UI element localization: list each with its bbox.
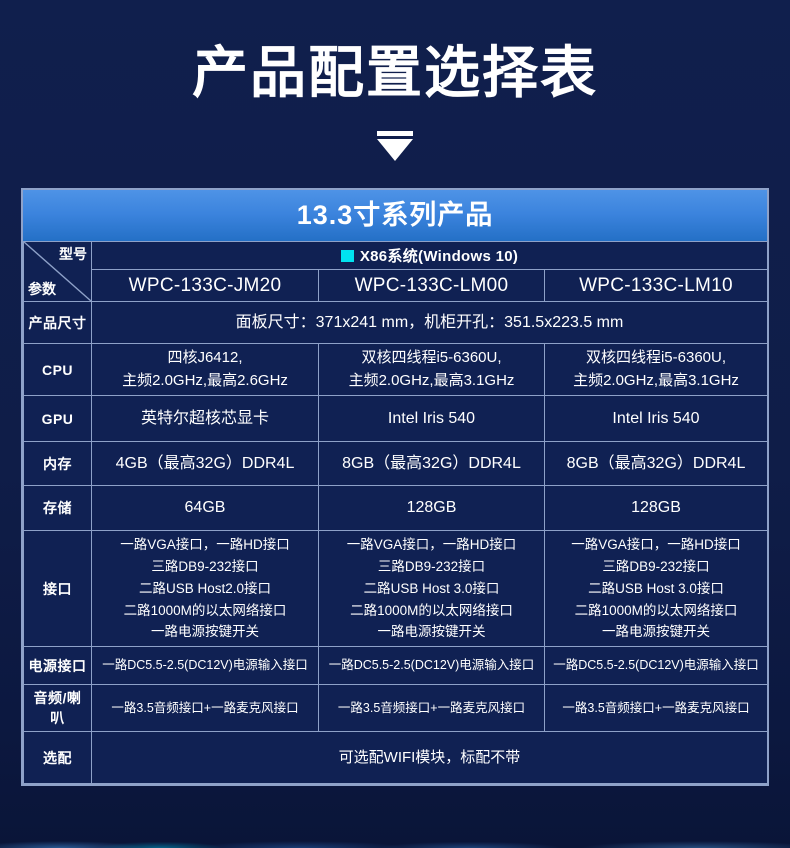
corner-cell: 型号 参数 [24, 242, 92, 302]
row-label-dimensions: 产品尺寸 [24, 302, 92, 344]
gpu-cell-1: 英特尔超核芯显卡 [92, 396, 319, 442]
table-row-gpu: GPU 英特尔超核芯显卡 Intel Iris 540 Intel Iris 5… [24, 396, 768, 442]
arrow-triangle [377, 139, 413, 161]
gpu-cell-3: Intel Iris 540 [545, 396, 768, 442]
gpu-cell-2: Intel Iris 540 [319, 396, 545, 442]
memory-cell-1: 4GB（最高32G）DDR4L [92, 442, 319, 486]
storage-cell-1: 64GB [92, 486, 319, 531]
model-cell-1: WPC-133C-JM20 [92, 270, 319, 302]
power-cell-2: 一路DC5.5-2.5(DC12V)电源输入接口 [319, 647, 545, 685]
iface-line: 一路VGA接口，一路HD接口 [96, 534, 314, 556]
iface-line: 三路DB9-232接口 [323, 556, 540, 578]
iface-line: 二路USB Host2.0接口 [96, 578, 314, 600]
cpu-line-3a: 双核四线程i5-6360U, [549, 347, 763, 370]
iface-line: 二路1000M的以太网络接口 [323, 600, 540, 622]
table-row-optional: 选配 可选配WIFI模块，标配不带 [24, 732, 768, 784]
row-label-interfaces: 接口 [24, 531, 92, 647]
audio-cell-1: 一路3.5音频接口+一路麦克风接口 [92, 685, 319, 732]
cpu-cell-1: 四核J6412, 主频2.0GHz,最高2.6GHz [92, 344, 319, 396]
power-cell-3: 一路DC5.5-2.5(DC12V)电源输入接口 [545, 647, 768, 685]
row-label-cpu: CPU [24, 344, 92, 396]
square-marker-icon [341, 250, 354, 262]
storage-cell-3: 128GB [545, 486, 768, 531]
page-title: 产品配置选择表 [0, 44, 790, 103]
row-label-gpu: GPU [24, 396, 92, 442]
memory-cell-3: 8GB（最高32G）DDR4L [545, 442, 768, 486]
iface-line: 一路电源按键开关 [549, 621, 763, 643]
table-row-cpu: CPU 四核J6412, 主频2.0GHz,最高2.6GHz 双核四线程i5-6… [24, 344, 768, 396]
series-banner: 13.3寸系列产品 [23, 190, 767, 241]
cpu-line-1a: 四核J6412, [96, 347, 314, 370]
cpu-line-2b: 主频2.0GHz,最高3.1GHz [323, 370, 540, 393]
row-label-power: 电源接口 [24, 647, 92, 685]
arrow-bar [377, 131, 413, 136]
iface-line: 二路1000M的以太网络接口 [96, 600, 314, 622]
row-label-audio: 音频/喇叭 [24, 685, 92, 732]
row-label-optional: 选配 [24, 732, 92, 784]
bottom-glow-strip [0, 834, 790, 848]
interfaces-cell-3: 一路VGA接口，一路HD接口 三路DB9-232接口 二路USB Host 3.… [545, 531, 768, 647]
spec-grid: 型号 参数 X86系统(Windows 10) WPC-133C-JM20 WP… [23, 241, 768, 784]
corner-model-label: 型号 [59, 244, 87, 264]
cpu-line-1b: 主频2.0GHz,最高2.6GHz [96, 370, 314, 393]
corner-param-label: 参数 [28, 279, 56, 299]
spec-grid-body: 型号 参数 X86系统(Windows 10) WPC-133C-JM20 WP… [24, 242, 768, 784]
iface-line: 一路VGA接口，一路HD接口 [323, 534, 540, 556]
iface-line: 二路USB Host 3.0接口 [323, 578, 540, 600]
iface-line: 一路VGA接口，一路HD接口 [549, 534, 763, 556]
model-cell-2: WPC-133C-LM00 [319, 270, 545, 302]
table-row-os: 型号 参数 X86系统(Windows 10) [24, 242, 768, 270]
table-row-models: WPC-133C-JM20 WPC-133C-LM00 WPC-133C-LM1… [24, 270, 768, 302]
power-cell-1: 一路DC5.5-2.5(DC12V)电源输入接口 [92, 647, 319, 685]
cpu-line-3b: 主频2.0GHz,最高3.1GHz [549, 370, 763, 393]
iface-line: 二路1000M的以太网络接口 [549, 600, 763, 622]
interfaces-cell-2: 一路VGA接口，一路HD接口 三路DB9-232接口 二路USB Host 3.… [319, 531, 545, 647]
cpu-cell-2: 双核四线程i5-6360U, 主频2.0GHz,最高3.1GHz [319, 344, 545, 396]
interfaces-cell-1: 一路VGA接口，一路HD接口 三路DB9-232接口 二路USB Host2.0… [92, 531, 319, 647]
audio-cell-2: 一路3.5音频接口+一路麦克风接口 [319, 685, 545, 732]
table-row-power: 电源接口 一路DC5.5-2.5(DC12V)电源输入接口 一路DC5.5-2.… [24, 647, 768, 685]
table-row-dimensions: 产品尺寸 面板尺寸：371x241 mm，机柜开孔：351.5x223.5 mm [24, 302, 768, 344]
iface-line: 一路电源按键开关 [96, 621, 314, 643]
audio-cell-3: 一路3.5音频接口+一路麦克风接口 [545, 685, 768, 732]
row-value-optional: 可选配WIFI模块，标配不带 [92, 732, 768, 784]
cpu-cell-3: 双核四线程i5-6360U, 主频2.0GHz,最高3.1GHz [545, 344, 768, 396]
iface-line: 二路USB Host 3.0接口 [549, 578, 763, 600]
table-row-audio: 音频/喇叭 一路3.5音频接口+一路麦克风接口 一路3.5音频接口+一路麦克风接… [24, 685, 768, 732]
product-spec-page: 产品配置选择表 13.3寸系列产品 型号 [0, 0, 790, 848]
row-label-memory: 内存 [24, 442, 92, 486]
table-row-storage: 存储 64GB 128GB 128GB [24, 486, 768, 531]
os-label: X86系统(Windows 10) [360, 248, 518, 265]
model-cell-3: WPC-133C-LM10 [545, 270, 768, 302]
os-cell: X86系统(Windows 10) [92, 242, 768, 270]
spec-table: 13.3寸系列产品 型号 参数 [21, 188, 769, 786]
table-row-memory: 内存 4GB（最高32G）DDR4L 8GB（最高32G）DDR4L 8GB（最… [24, 442, 768, 486]
triangle-down-icon [373, 131, 417, 163]
table-row-interfaces: 接口 一路VGA接口，一路HD接口 三路DB9-232接口 二路USB Host… [24, 531, 768, 647]
iface-line: 一路电源按键开关 [323, 621, 540, 643]
iface-line: 三路DB9-232接口 [96, 556, 314, 578]
storage-cell-2: 128GB [319, 486, 545, 531]
cpu-line-2a: 双核四线程i5-6360U, [323, 347, 540, 370]
row-label-storage: 存储 [24, 486, 92, 531]
iface-line: 三路DB9-232接口 [549, 556, 763, 578]
row-value-dimensions: 面板尺寸：371x241 mm，机柜开孔：351.5x223.5 mm [92, 302, 768, 344]
memory-cell-2: 8GB（最高32G）DDR4L [319, 442, 545, 486]
